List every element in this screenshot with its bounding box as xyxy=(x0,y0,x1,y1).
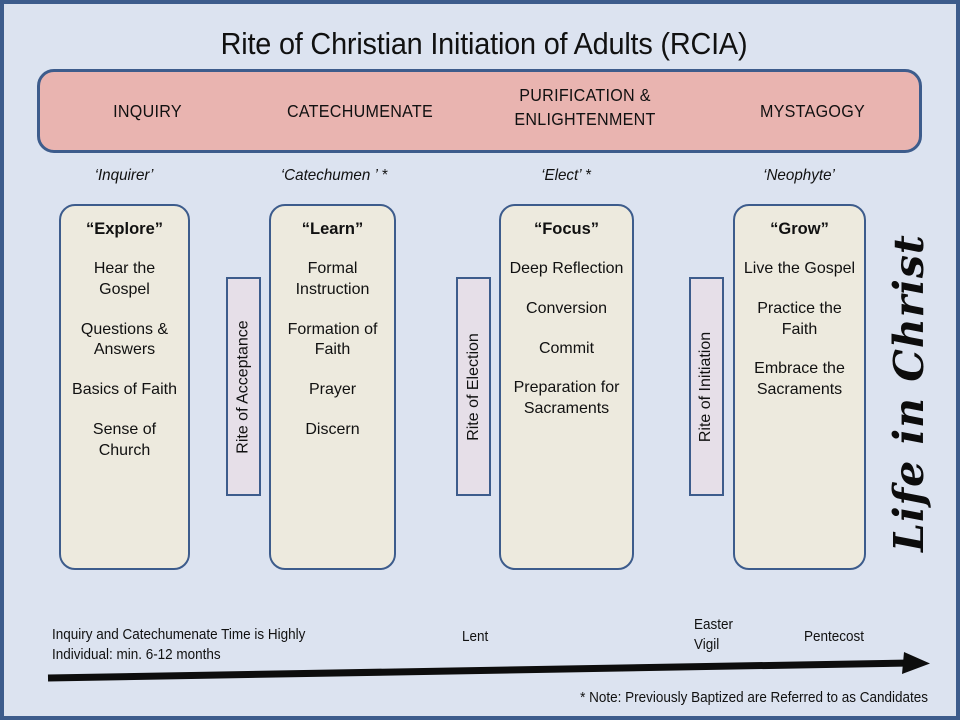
banner-stage-purification-enlightenment: PURIFICATION & ENLIGHTENMENT xyxy=(475,84,696,131)
stage-column-mystagogy: “Grow” Live the Gospel Practice the Fait… xyxy=(733,204,866,570)
banner-stage-catechumenate: CATECHUMENATE xyxy=(250,100,471,124)
column-item: Sense of Church xyxy=(61,420,188,462)
column-heading: “Focus” xyxy=(501,220,632,239)
column-item: Preparation for Sacraments xyxy=(501,378,632,420)
timeline-marker-lent: Lent xyxy=(462,628,488,648)
column-item: Formation of Faith xyxy=(271,320,394,362)
column-heading: “Explore” xyxy=(61,220,188,239)
column-item: Discern xyxy=(271,420,394,441)
column-item: Formal Instruction xyxy=(271,259,394,301)
stage-column-catechumenate: “Learn” Formal Instruction Formation of … xyxy=(269,204,396,570)
column-item: Deep Reflection xyxy=(501,259,632,280)
rite-label: Rite of Election xyxy=(465,333,483,441)
column-item: Questions & Answers xyxy=(61,320,188,362)
banner-stage-mystagogy: MYSTAGOGY xyxy=(714,100,912,124)
column-item: Practice the Faith xyxy=(735,299,864,341)
role-label-inquirer: ‘Inquirer’ xyxy=(62,167,186,185)
role-label-catechumen: ‘Catechumen ’ * xyxy=(263,167,406,185)
column-item: Commit xyxy=(501,339,632,360)
column-item: Live the Gospel xyxy=(735,259,864,280)
column-item: Embrace the Sacraments xyxy=(735,359,864,401)
timeline-marker-pentecost: Pentecost xyxy=(804,628,864,648)
rcia-diagram: Rite of Christian Initiation of Adults (… xyxy=(0,0,960,720)
column-heading: “Learn” xyxy=(271,220,394,239)
role-label-elect: ‘Elect’ * xyxy=(500,167,633,185)
stage-column-purification: “Focus” Deep Reflection Conversion Commi… xyxy=(499,204,634,570)
stage-banner: INQUIRY CATECHUMENATE PURIFICATION & ENL… xyxy=(37,69,922,153)
footnote-note: * Note: Previously Baptized are Referred… xyxy=(580,690,928,706)
rite-label: Rite of Initiation xyxy=(698,331,716,441)
column-item: Conversion xyxy=(501,299,632,320)
timeline-arrow xyxy=(44,649,934,685)
column-heading: “Grow” xyxy=(735,220,864,239)
stage-column-inquiry: “Explore” Hear the Gospel Questions & An… xyxy=(59,204,190,570)
rite-of-election-box: Rite of Election xyxy=(456,277,491,496)
rite-of-initiation-box: Rite of Initiation xyxy=(689,277,724,496)
role-label-neophyte: ‘Neophyte’ xyxy=(733,167,866,185)
banner-stage-inquiry: INQUIRY xyxy=(49,100,247,124)
rite-label: Rite of Acceptance xyxy=(235,320,253,453)
column-item: Basics of Faith xyxy=(61,380,188,401)
rite-of-acceptance-box: Rite of Acceptance xyxy=(226,277,261,496)
column-item: Hear the Gospel xyxy=(61,259,188,301)
page-title: Rite of Christian Initiation of Adults (… xyxy=(38,26,931,62)
life-in-christ-label: Life in Christ xyxy=(885,183,933,603)
column-item: Prayer xyxy=(271,380,394,401)
